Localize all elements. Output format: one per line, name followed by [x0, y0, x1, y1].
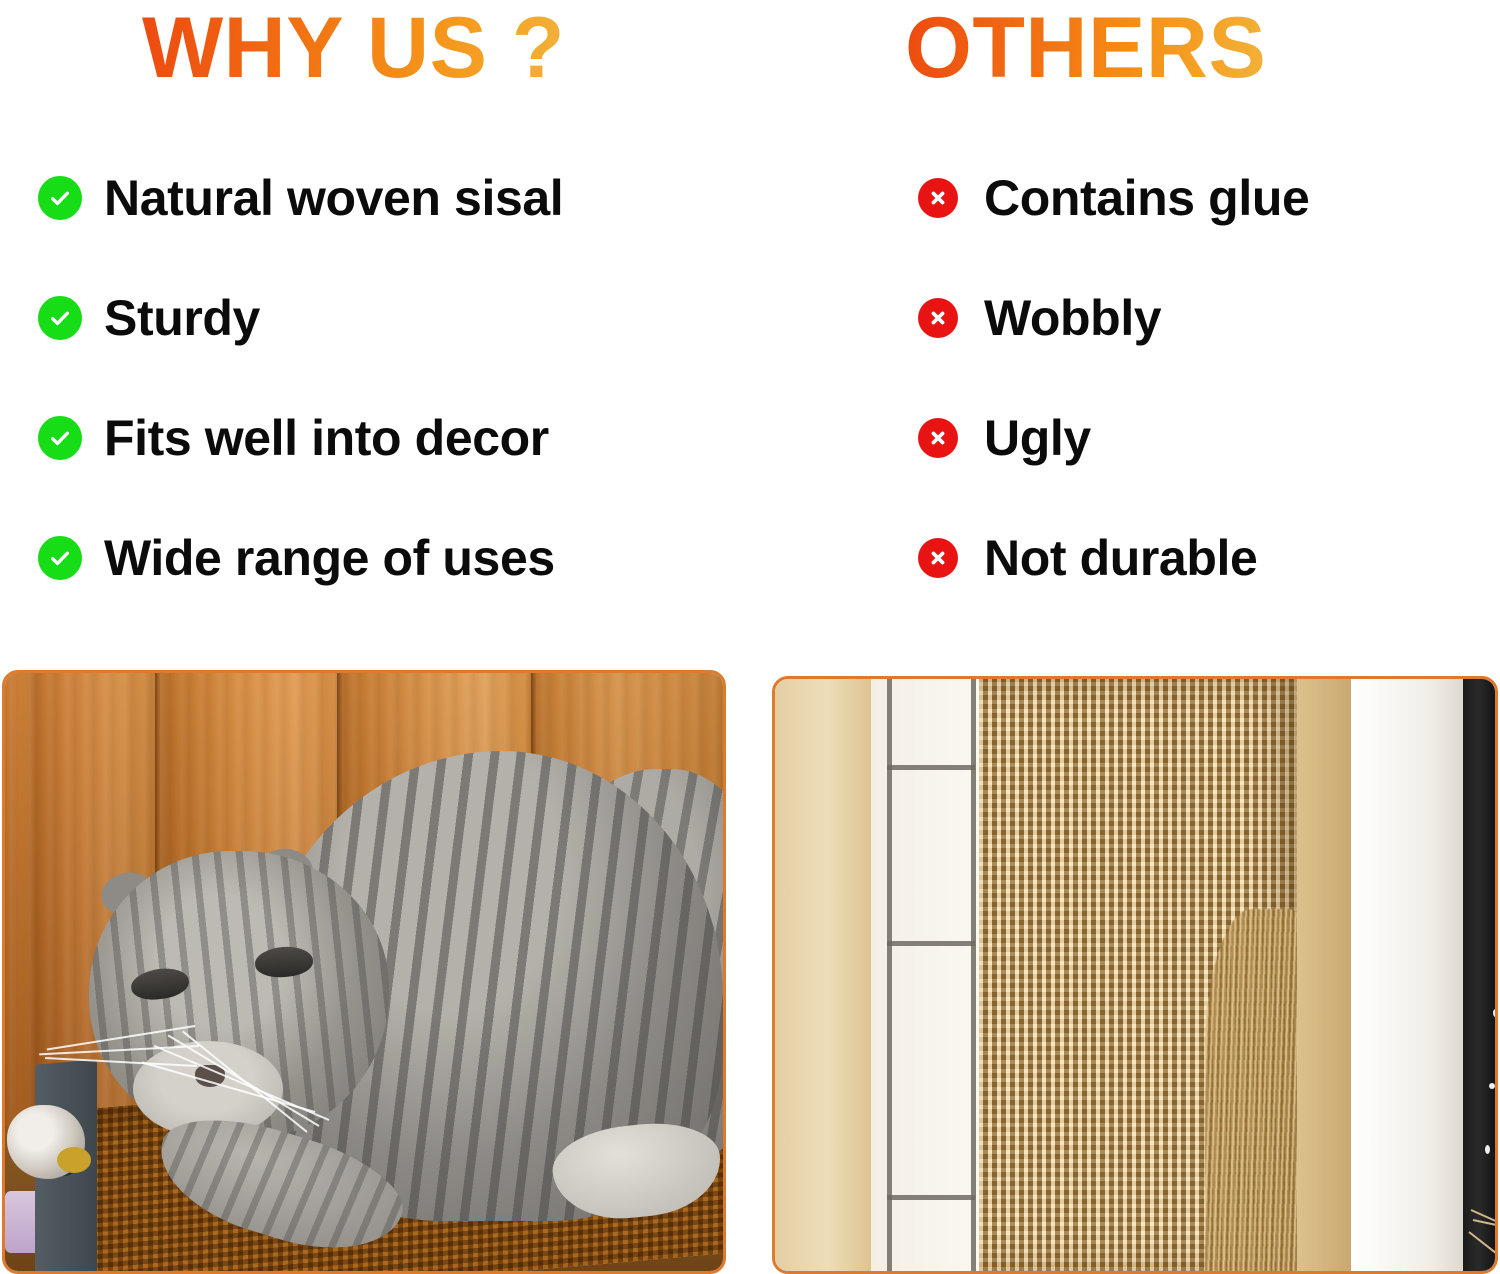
door-white-face	[1351, 679, 1463, 1271]
list-item-label: Wide range of uses	[104, 533, 555, 583]
cat-on-sisal-scratcher-photo	[2, 670, 726, 1274]
cons-list: Contains glue Wobbly Ugly	[918, 170, 1500, 586]
door-edge-wood	[1297, 679, 1351, 1271]
list-item-label: Contains glue	[984, 173, 1309, 223]
comparison-board: WHY US ? Natural woven sisal Sturdy	[0, 0, 1500, 1274]
list-item: Wide range of uses	[38, 530, 728, 586]
check-circle-icon	[38, 536, 82, 580]
list-item-label: Natural woven sisal	[104, 173, 563, 223]
pros-title: WHY US ?	[142, 0, 565, 98]
list-item: Sturdy	[38, 290, 728, 346]
pros-column: WHY US ? Natural woven sisal Sturdy	[0, 0, 750, 1274]
list-item: Fits well into decor	[38, 410, 728, 466]
list-item: Contains glue	[918, 170, 1500, 226]
x-circle-icon	[918, 298, 958, 338]
list-item-label: Not durable	[984, 533, 1257, 583]
list-item: Wobbly	[918, 290, 1500, 346]
x-circle-icon	[918, 418, 958, 458]
check-circle-icon	[38, 176, 82, 220]
x-circle-icon	[918, 538, 958, 578]
dark-door-panel	[1463, 679, 1495, 1271]
check-circle-icon	[38, 296, 82, 340]
door-frame-wood	[775, 679, 871, 1271]
frayed-sisal-mat-photo	[772, 676, 1498, 1274]
grey-cat	[5, 673, 723, 1271]
cons-title: OTHERS	[905, 0, 1266, 98]
list-item-label: Sturdy	[104, 293, 260, 343]
check-circle-icon	[38, 416, 82, 460]
list-item: Ugly	[918, 410, 1500, 466]
list-item: Natural woven sisal	[38, 170, 728, 226]
x-circle-icon	[918, 178, 958, 218]
list-item-label: Ugly	[984, 413, 1091, 463]
pros-list: Natural woven sisal Sturdy Fits well int…	[38, 170, 728, 586]
list-item-label: Fits well into decor	[104, 413, 549, 463]
list-item-label: Wobbly	[984, 293, 1161, 343]
list-item: Not durable	[918, 530, 1500, 586]
